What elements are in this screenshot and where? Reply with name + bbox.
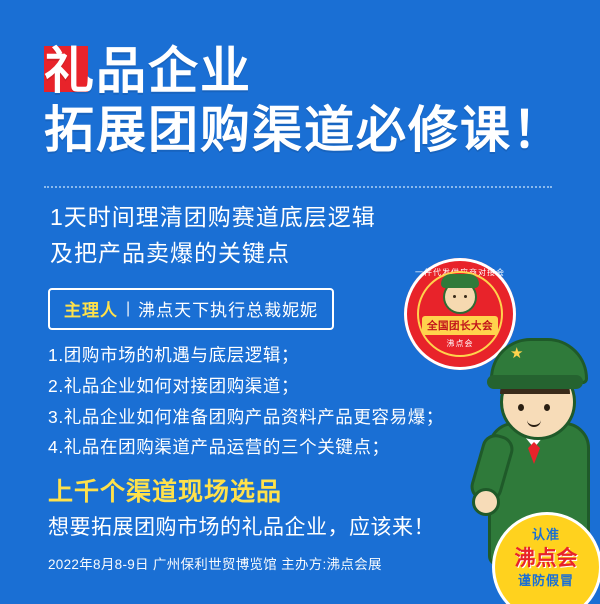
list-item: 3.礼品企业如何准备团购产品资料产品更容易爆； (48, 402, 518, 433)
host-label: 主理人 (64, 296, 118, 321)
title-line-2: 拓展团购渠道必修课！ (44, 101, 564, 160)
authenticity-seal: 认准 沸点会 谨防假冒 (492, 512, 600, 604)
poster-canvas: 礼品企业 拓展团购渠道必修课！ 1天时间理清团购赛道底层逻辑 及把产品卖爆的关键… (0, 0, 600, 604)
mascot-cap (490, 338, 588, 384)
subtitle-line-1: 1天时间理清团购赛道底层逻辑 (50, 200, 550, 236)
dotted-divider (44, 186, 552, 188)
seal-line-1: 认准 (492, 524, 600, 543)
mascot-eye-right-icon (544, 404, 550, 411)
face-eye-right-icon (464, 295, 467, 298)
host-divider: | (126, 300, 130, 318)
star-icon: ★ (510, 344, 523, 362)
face-eye-left-icon (453, 295, 456, 298)
list-item: 4.礼品在团购渠道产品运营的三个关键点； (48, 432, 518, 463)
title-line-1: 礼品企业 (44, 42, 564, 101)
poster-title: 礼品企业 拓展团购渠道必修课！ (44, 42, 564, 160)
seal-line-2: 沸点会 (492, 542, 600, 572)
mascot-eye-left-icon (518, 404, 524, 411)
host-name: 沸点天下执行总裁妮妮 (138, 296, 318, 321)
seal-line-3: 谨防假冒 (492, 570, 600, 589)
list-item: 2.礼品企业如何对接团购渠道； (48, 371, 518, 402)
soldier-face-icon (445, 282, 475, 312)
host-box: 主理人 | 沸点天下执行总裁妮妮 (48, 288, 334, 330)
